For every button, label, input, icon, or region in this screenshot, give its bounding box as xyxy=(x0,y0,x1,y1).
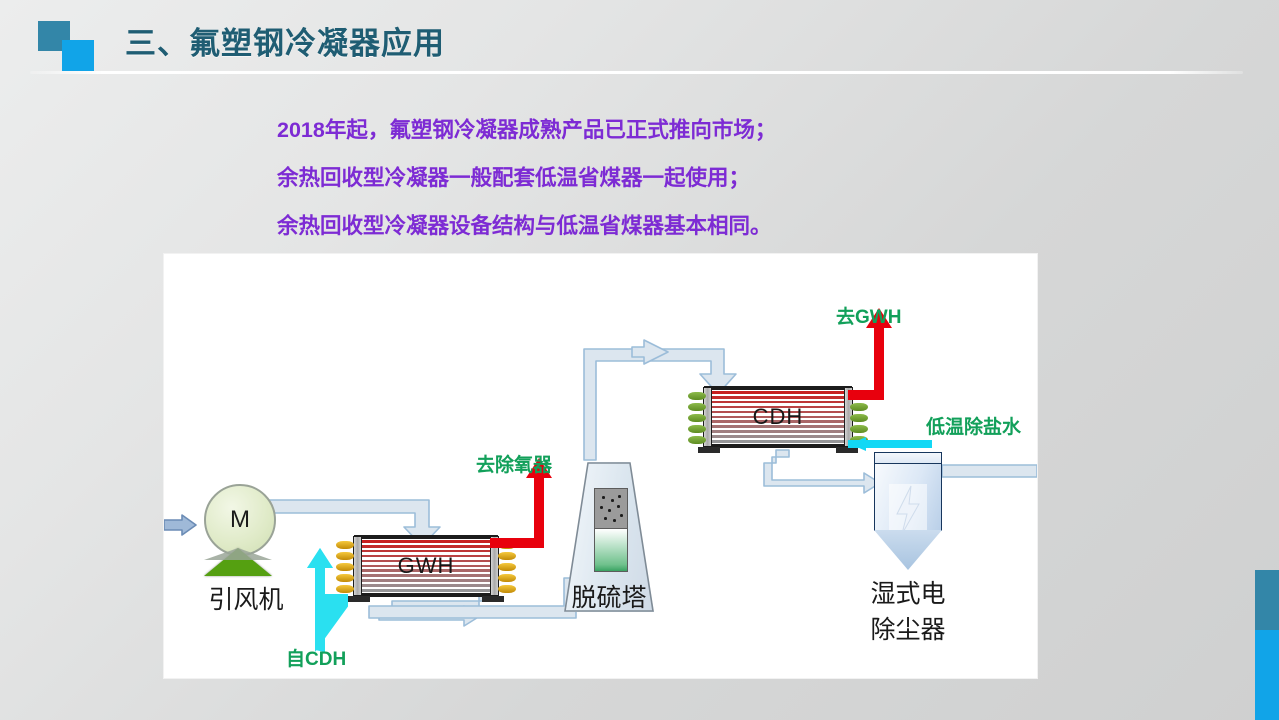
gwh-heat-exchanger: GWH xyxy=(354,539,498,593)
cdh-heat-exchanger: CDH xyxy=(704,390,852,444)
to-gwh-label: 去GWH xyxy=(836,302,901,329)
bullet-line-2: 余热回收型冷凝器一般配套低温省煤器一起使用； xyxy=(277,154,1037,202)
body-text-block: 2018年起，氟塑钢冷凝器成熟产品已正式推向市场； 余热回收型冷凝器一般配套低温… xyxy=(277,106,1037,250)
induced-draft-fan: M 引风机 xyxy=(188,484,308,614)
bullet-line-1: 2018年起，氟塑钢冷凝器成熟产品已正式推向市场； xyxy=(277,106,1037,154)
tower-spray-zone xyxy=(594,488,628,530)
decor-square-bottom xyxy=(62,40,94,71)
wesp-hopper xyxy=(874,530,942,570)
wesp-label-line-2: 除尘器 xyxy=(850,612,966,648)
cdh-label: CDH xyxy=(704,404,852,430)
cdh-bottom-plate xyxy=(704,444,852,448)
wet-electrostatic-precipitator: 湿式电 除尘器 xyxy=(874,452,942,572)
accent-bar-bottom xyxy=(1255,630,1279,720)
desulfurization-tower: 脱硫塔 xyxy=(564,462,654,612)
fan-label: 引风机 xyxy=(188,580,304,616)
demin-water-label: 低温除盐水 xyxy=(926,412,1021,439)
page-title: 三、氟塑钢冷凝器应用 xyxy=(125,18,445,63)
wesp-body xyxy=(874,463,942,531)
fan-motor-symbol: M xyxy=(204,484,276,556)
cdh-left-foot xyxy=(698,447,720,453)
tower-label: 脱硫塔 xyxy=(552,578,666,614)
lightning-bolt-icon xyxy=(889,484,927,536)
wesp-label: 湿式电 除尘器 xyxy=(850,576,966,648)
title-divider xyxy=(30,71,1243,74)
from-cdh-label: 自CDH xyxy=(286,644,346,671)
gwh-top-plate xyxy=(354,535,498,539)
tower-slurry-pool xyxy=(594,528,628,572)
gwh-bottom-plate xyxy=(354,593,498,597)
wesp-label-line-1: 湿式电 xyxy=(850,576,966,612)
accent-bar-top xyxy=(1255,570,1279,630)
cdh-top-plate xyxy=(704,386,852,390)
gwh-label: GWH xyxy=(354,553,498,579)
from-cdh-arrow xyxy=(304,542,348,652)
bullet-line-3: 余热回收型冷凝器设备结构与低温省煤器基本相同。 xyxy=(277,202,1037,250)
process-flow-diagram: M 引风机 GWH xyxy=(164,254,1037,678)
to-deaerator-label: 去除氧器 xyxy=(476,450,552,477)
fan-base-shade xyxy=(204,548,272,560)
gwh-right-foot xyxy=(482,596,504,602)
demin-water-arrow xyxy=(848,436,932,452)
gwh-left-foot xyxy=(348,596,370,602)
